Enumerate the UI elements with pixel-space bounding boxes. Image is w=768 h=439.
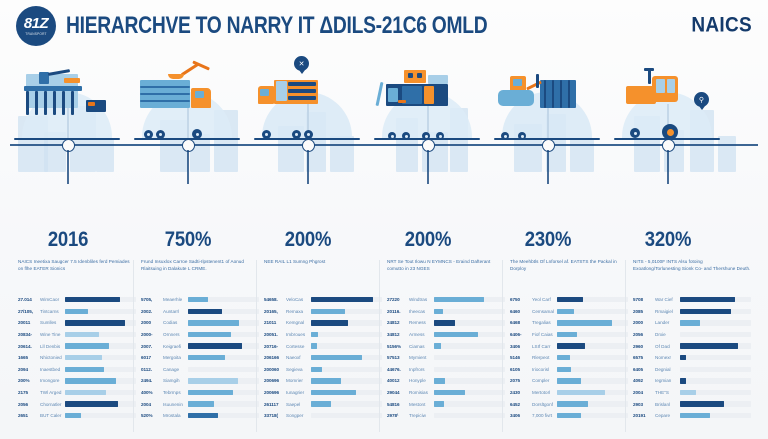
bar-row[interactable]: 6017Mergoita — [141, 352, 259, 364]
bar-track — [311, 343, 382, 348]
bar-row[interactable]: 2085Rmaigiel — [633, 306, 751, 318]
bar-track — [680, 367, 751, 372]
bar-track — [680, 343, 751, 348]
bar-row[interactable]: 400%Tebrmps — [141, 387, 259, 399]
row-code: 6406- — [510, 332, 532, 337]
bar-track — [557, 355, 628, 360]
bar-fill — [311, 401, 331, 406]
bar-track — [65, 355, 136, 360]
bar-row[interactable]: 2002.Auntarrl — [141, 306, 259, 318]
row-code: 2094 — [18, 367, 40, 372]
bar-row[interactable]: 44676.Inpfrors — [387, 364, 505, 376]
bar-fill — [65, 413, 81, 418]
stat-value-6: 320% — [606, 226, 730, 251]
scene-rail-wagon — [368, 62, 486, 140]
row-label: Imongore — [40, 378, 65, 383]
timeline-stem-down — [67, 150, 69, 184]
row-code: 2960 — [633, 344, 655, 349]
bar-row[interactable]: 520%Mrostala — [141, 410, 259, 422]
row-label: Naeoxf — [286, 355, 311, 360]
bar-fill — [680, 297, 735, 302]
bar-row[interactable]: 20051.Imbroues — [264, 329, 382, 341]
bar-track — [557, 401, 628, 406]
stat-row: 2016750%200%200%230%320% — [0, 228, 768, 258]
bar-track — [311, 367, 382, 372]
bar-row[interactable]: 4092Iegmian — [633, 375, 751, 387]
bar-track — [65, 320, 136, 325]
bar-row[interactable]: 27220Windtras — [387, 294, 505, 306]
bar-track — [680, 320, 751, 325]
bar-row[interactable]: 2007.Keigraefi — [141, 340, 259, 352]
bar-row[interactable]: 5708War Cief — [633, 294, 751, 306]
bar-row[interactable]: 24812Remess — [387, 317, 505, 329]
row-code: 261117 — [264, 402, 286, 407]
column-5: The Meehbtls Of Lnforsel af. EATSTS the … — [510, 258, 628, 284]
bar-row[interactable]: 200060Segieva — [264, 364, 382, 376]
row-label: Drxie — [655, 332, 680, 337]
bar-track — [434, 390, 505, 395]
row-code: 2000 — [141, 320, 163, 325]
infographic-page: 81Z TRANSPORT HIERARCHVE TO NARRY IT ΔDI… — [0, 0, 768, 439]
row-code: 6017 — [141, 355, 163, 360]
skyline-building — [718, 136, 736, 172]
stat-value-4: 200% — [366, 226, 490, 251]
row-label: TWl Arged — [40, 390, 65, 395]
column-divider — [256, 260, 257, 432]
bar-row[interactable]: 34067,000 fivrt — [510, 410, 628, 422]
bar-row[interactable]: 6452Dorsltgonf — [510, 398, 628, 410]
bar-fill — [557, 401, 588, 406]
row-code: 2056 — [18, 402, 40, 407]
bar-row[interactable]: 20614.Lll Denbis — [18, 340, 136, 352]
row-code: 6452 — [510, 402, 532, 407]
column-description: NRT Se Tout Ilowu N EYMNCS - Eraind Daft… — [387, 258, 505, 284]
row-code: 2651 — [18, 413, 40, 418]
row-code: 2978¹ — [387, 413, 409, 418]
bar-row[interactable]: 2903Brislanl — [633, 398, 751, 410]
row-label: Cemsamal — [532, 309, 557, 314]
bar-row[interactable]: 2430Mertotorl — [510, 387, 628, 399]
column-divider — [625, 260, 626, 432]
bar-fill — [311, 390, 356, 395]
bar-fill — [311, 367, 322, 372]
timeline-connector — [10, 144, 758, 146]
bar-fill — [434, 320, 455, 325]
row-code: 1665 — [18, 355, 40, 360]
row-code: 6468 — [510, 320, 532, 325]
bar-row[interactable]: 20165,Remaxa — [264, 306, 382, 318]
row-code: 6750 — [510, 297, 532, 302]
row-code: 2000 — [633, 320, 655, 325]
bar-fill — [557, 367, 571, 372]
bar-fill — [188, 401, 214, 406]
bar-row[interactable]: 57513Mymient — [387, 352, 505, 364]
row-label: Ornners — [163, 332, 188, 337]
bar-track — [434, 343, 505, 348]
row-label: Iegmian — [655, 378, 680, 383]
row-label: Romisias — [409, 390, 434, 395]
row-code: 44676. — [387, 367, 409, 372]
bar-track — [65, 297, 136, 302]
bar-fill — [434, 401, 444, 406]
row-label: Saepel — [286, 402, 311, 407]
bar-row[interactable]: 5705,Meaerhle — [141, 294, 259, 306]
bar-row[interactable]: 29044Romisias — [387, 387, 505, 399]
row-code: 2903 — [633, 402, 655, 407]
row-label: Lander — [655, 320, 680, 325]
bar-fill — [680, 343, 738, 348]
row-code: 6460 — [510, 309, 532, 314]
bar-fill — [65, 355, 102, 360]
location-pin-icon: ⚲ — [694, 92, 709, 107]
bar-track — [434, 297, 505, 302]
bar-track — [188, 332, 259, 337]
row-label: WimCaor — [40, 297, 65, 302]
bar-row[interactable]: 206166Naeoxf — [264, 352, 382, 364]
row-label: Cepare — [655, 413, 680, 418]
row-label: Fiof Caias — [532, 332, 557, 337]
bar-track — [188, 355, 259, 360]
bar-row[interactable]: 2004THE"S — [633, 387, 751, 399]
row-code: 3406 — [510, 413, 532, 418]
bar-fill — [434, 390, 465, 395]
timeline-stem-down — [307, 150, 309, 184]
bar-row[interactable]: 2651BUT Caler — [18, 410, 136, 422]
row-label: Isuunenin — [163, 402, 188, 407]
row-code: 54816 — [387, 402, 409, 407]
column-description: Frund Insuxlox Carroe Sadti-Ilpstenent1 … — [141, 258, 259, 284]
bar-track — [65, 367, 136, 372]
bar-row[interactable]: 27/105,Tintcarns — [18, 306, 136, 318]
bar-row[interactable]: 6406-Fiof Caias — [510, 329, 628, 341]
bar-track — [188, 390, 259, 395]
row-label: Ciamas — [409, 344, 434, 349]
bar-track — [311, 320, 382, 325]
illustration-band: ✕ — [0, 52, 768, 232]
row-code: 20614. — [18, 344, 40, 349]
bar-row[interactable]: 20116.Iheecas — [387, 306, 505, 318]
bar-row[interactable]: 261117Saepel — [264, 398, 382, 410]
row-code: 2007. — [141, 344, 163, 349]
row-code: 27.014 — [18, 297, 40, 302]
bar-track — [557, 297, 628, 302]
bar-track — [557, 367, 628, 372]
bar-fill — [188, 355, 225, 360]
row-code: 57513 — [387, 355, 409, 360]
bar-fill — [434, 297, 484, 302]
column-4: NRT Se Tout Ilowu N EYMNCS - Eraind Daft… — [387, 258, 505, 284]
bar-fill — [188, 343, 242, 348]
bar-fill — [557, 343, 585, 348]
bar-track — [188, 413, 259, 418]
bar-row[interactable]: 20834-Wine Tine — [18, 329, 136, 341]
column-description: NEE RAIL L1 Sumng Phgrost — [264, 258, 382, 284]
column-description: NAICS Ineetixa Saugcer 7.5 Idenbliles fe… — [18, 258, 136, 284]
bar-track — [680, 401, 751, 406]
bar-track — [65, 390, 136, 395]
bar-row[interactable]: 2494.Siamgih — [141, 375, 259, 387]
row-label: Of Dacl — [655, 344, 680, 349]
bar-track — [311, 390, 382, 395]
row-code: 24812 — [387, 320, 409, 325]
scene-tractor: ⚲ — [608, 62, 726, 140]
bar-track — [65, 309, 136, 314]
bar-row[interactable]: 27.014WimCaor — [18, 294, 136, 306]
row-label: Brislanl — [655, 402, 680, 407]
bar-row[interactable]: 40012Honyple — [387, 375, 505, 387]
bar-row[interactable]: 2004Isuunenin — [141, 398, 259, 410]
bar-fill — [311, 332, 318, 337]
bar-row[interactable]: 2056Drxie — [633, 329, 751, 341]
bar-row[interactable]: 5146Rlerpeot — [510, 352, 628, 364]
bar-row[interactable]: 2000Lander — [633, 317, 751, 329]
row-label: Segieva — [286, 367, 311, 372]
bar-track — [311, 297, 382, 302]
row-code: 200696 — [264, 378, 286, 383]
row-label: Iunagrier — [286, 390, 311, 395]
bar-fill — [680, 309, 731, 314]
page-header: 81Z TRANSPORT HIERARCHVE TO NARRY IT ΔDI… — [0, 0, 768, 52]
logo-secondary-text: TRANSPORT — [25, 33, 46, 36]
row-code: 21011 — [264, 320, 286, 325]
brand-label: NAICS — [691, 14, 752, 38]
data-columns: NAICS Ineetixa Saugcer 7.5 Idenbliles fe… — [0, 258, 768, 439]
bar-fill — [680, 378, 686, 383]
bar-row[interactable]: 2075Compler — [510, 375, 628, 387]
bar-track — [434, 320, 505, 325]
bar-row[interactable]: 21011Kemgnal — [264, 317, 382, 329]
bar-fill — [65, 332, 99, 337]
bar-fill — [188, 309, 222, 314]
bar-fill — [311, 297, 373, 302]
row-label: Trepiciw — [409, 413, 434, 418]
bar-row[interactable]: 2056Chornatler — [18, 398, 136, 410]
row-code: 3406 — [510, 344, 532, 349]
bar-row[interactable]: 2960Of Dacl — [633, 340, 751, 352]
bar-track — [188, 343, 259, 348]
bar-row[interactable]: 54816Mestont — [387, 398, 505, 410]
bar-track — [557, 413, 628, 418]
row-code: 6575 — [633, 355, 655, 360]
row-label: Nhictonied — [40, 355, 65, 360]
stat-value-3: 200% — [246, 226, 370, 251]
bar-row[interactable]: 20191Cepare — [633, 410, 751, 422]
row-label: Mymient — [409, 355, 434, 360]
bar-row[interactable]: 3406LSIf Carr — [510, 340, 628, 352]
bar-row[interactable]: 1665Nhictonied — [18, 352, 136, 364]
stat-value-5: 230% — [486, 226, 610, 251]
bar-row[interactable]: 200696Iunagrier — [264, 387, 382, 399]
bar-fill — [557, 378, 581, 383]
row-code: 29044 — [387, 390, 409, 395]
bar-fill — [311, 378, 341, 383]
row-code: 206166 — [264, 355, 286, 360]
bar-fill — [680, 401, 724, 406]
row-code: 5146 — [510, 355, 532, 360]
row-code: 20051. — [264, 332, 286, 337]
bar-track — [557, 390, 628, 395]
bar-list: 27220Windtras20116.Iheecas24812Remess348… — [387, 294, 505, 422]
bar-track — [680, 390, 751, 395]
row-code: 5156% — [387, 344, 409, 349]
timeline-stem-down — [427, 150, 429, 184]
row-label: Mertotorl — [532, 390, 557, 395]
row-label: VeloCas — [286, 297, 311, 302]
bar-track — [434, 367, 505, 372]
bar-row[interactable]: 33718(Songper — [264, 410, 382, 422]
bar-row[interactable]: 6575Nomexr — [633, 352, 751, 364]
bar-track — [434, 355, 505, 360]
row-label: LSIf Carr — [532, 344, 557, 349]
bar-list: 27.014WimCaor27/105,Tintcarns20011Sumlle… — [18, 294, 136, 422]
row-code: 2075 — [510, 378, 532, 383]
bar-row[interactable]: 2000-Ornners — [141, 329, 259, 341]
bar-row[interactable]: 6460Cemsamal — [510, 306, 628, 318]
bar-row[interactable]: 2978¹Trepiciw — [387, 410, 505, 422]
column-2: Frund Insuxlox Carroe Sadti-Ilpstenent1 … — [141, 258, 259, 284]
row-code: 2000- — [141, 332, 163, 337]
bar-row[interactable]: 6468Tregalias — [510, 317, 628, 329]
row-code: 27220 — [387, 297, 409, 302]
row-code: 520% — [141, 413, 163, 418]
bar-row[interactable]: 20716-Cortesse — [264, 340, 382, 352]
bar-track — [311, 332, 382, 337]
row-label: Iriocorisl — [532, 367, 557, 372]
bar-list: 6750Yeol Carf6460Cemsamal6468Tregalias64… — [510, 294, 628, 422]
bar-track — [65, 378, 136, 383]
bar-fill — [65, 309, 88, 314]
row-label: Imbroues — [286, 332, 311, 337]
bar-fill — [557, 355, 570, 360]
row-label: Wine Tine — [40, 332, 65, 337]
bar-track — [311, 355, 382, 360]
bar-row[interactable]: 6405Degnial — [633, 364, 751, 376]
bar-row[interactable]: 2094Inaestbed — [18, 364, 136, 376]
row-code: 2004 — [633, 390, 655, 395]
row-code: 200696 — [264, 390, 286, 395]
bar-fill — [680, 390, 696, 395]
bar-track — [557, 343, 628, 348]
row-label: 7,000 fivrt — [532, 413, 557, 418]
row-code: 2002. — [141, 309, 163, 314]
row-label: Canage — [163, 367, 188, 372]
row-code: 34812 — [387, 332, 409, 337]
skyline-building — [330, 136, 354, 172]
row-label: War Cief — [655, 297, 680, 302]
row-label: Tregalias — [532, 320, 557, 325]
row-code: 5705, — [141, 297, 163, 302]
bar-row[interactable]: 0112.Canage — [141, 364, 259, 376]
row-code: 2004 — [141, 402, 163, 407]
bar-row[interactable]: 54658.VeloCas — [264, 294, 382, 306]
row-code: 4092 — [633, 378, 655, 383]
bar-track — [65, 332, 136, 337]
row-code: 20834- — [18, 332, 40, 337]
row-code: 20165, — [264, 309, 286, 314]
bar-fill — [65, 367, 104, 372]
column-3: NEE RAIL L1 Sumng Phgrost54658.VeloCas20… — [264, 258, 382, 284]
bar-fill — [188, 332, 231, 337]
column-divider — [502, 260, 503, 432]
bar-fill — [680, 413, 710, 418]
row-code: 20716- — [264, 344, 286, 349]
timeline-stem-down — [547, 150, 549, 184]
bar-fill — [65, 390, 106, 395]
bar-fill — [188, 378, 238, 383]
bar-fill — [557, 413, 581, 418]
bar-fill — [65, 378, 116, 383]
bar-fill — [434, 343, 441, 348]
bar-fill — [188, 297, 208, 302]
row-code: 2175 — [18, 390, 40, 395]
row-code: 40012 — [387, 378, 409, 383]
bar-fill — [65, 297, 120, 302]
bar-fill — [557, 309, 574, 314]
row-label: Armess — [409, 332, 434, 337]
row-code: 2430 — [510, 390, 532, 395]
bar-fill — [680, 355, 686, 360]
bar-track — [65, 413, 136, 418]
bar-track — [188, 378, 259, 383]
row-label: Meaerhle — [163, 297, 188, 302]
bar-row[interactable]: 20011Sumlles — [18, 317, 136, 329]
scene-crane-truck — [128, 62, 246, 140]
row-label: Honyple — [409, 378, 434, 383]
row-code: 20191 — [633, 413, 655, 418]
row-code: 27/105, — [18, 309, 40, 314]
row-code: 0112. — [141, 367, 163, 372]
row-code: 2056 — [633, 332, 655, 337]
bar-list: 5705,Meaerhle2002.Auntarrl2000Codias2000… — [141, 294, 259, 422]
bar-row[interactable]: 34812Armess — [387, 329, 505, 341]
row-label: Lll Denbis — [40, 344, 65, 349]
bar-track — [311, 309, 382, 314]
bar-track — [557, 309, 628, 314]
row-code: 2494. — [141, 378, 163, 383]
bar-track — [311, 413, 382, 418]
bar-row[interactable]: 200696Momrier — [264, 375, 382, 387]
row-label: Chornatler — [40, 402, 65, 407]
row-code: 2085 — [633, 309, 655, 314]
bar-track — [434, 378, 505, 383]
row-label: Songper — [286, 413, 311, 418]
row-code: 54658. — [264, 297, 286, 302]
bar-row[interactable]: 200%Imongore — [18, 375, 136, 387]
bar-row[interactable]: 6105Iriocorisl — [510, 364, 628, 376]
bar-row[interactable]: 5156%Ciamas — [387, 340, 505, 352]
column-divider — [379, 260, 380, 432]
row-label: Windtras — [409, 297, 434, 302]
bar-track — [680, 297, 751, 302]
bar-track — [680, 332, 751, 337]
bar-fill — [65, 343, 109, 348]
page-title: HIERARCHVE TO NARRY IT ΔDILS-21C6 OMLD — [66, 12, 487, 40]
bar-fill — [434, 332, 478, 337]
bar-track — [311, 401, 382, 406]
row-label: Codias — [163, 320, 188, 325]
bar-row[interactable]: 2175TWl Arged — [18, 387, 136, 399]
bar-fill — [557, 332, 577, 337]
bar-track — [680, 309, 751, 314]
scene-tanker-truck — [488, 62, 606, 140]
bar-track — [188, 309, 259, 314]
row-code: 400% — [141, 390, 163, 395]
bar-fill — [311, 320, 348, 325]
row-label: Degnial — [655, 367, 680, 372]
bar-row[interactable]: 6750Yeol Carf — [510, 294, 628, 306]
bar-track — [434, 309, 505, 314]
bar-row[interactable]: 2000Codias — [141, 317, 259, 329]
